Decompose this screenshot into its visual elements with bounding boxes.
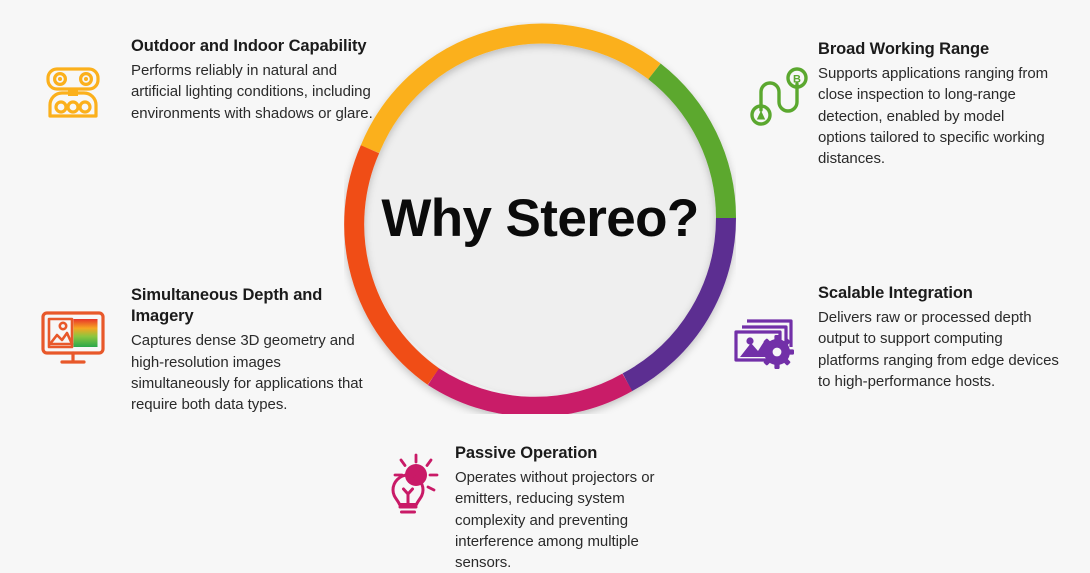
stereo-camera-robot-icon [36, 55, 110, 129]
feature-body: Captures dense 3D geometry and high-reso… [131, 330, 375, 415]
infographic-canvas: Why Stereo? Outdoor and Indoor Capabilit… [0, 0, 1090, 573]
feature-body: Supports applications ranging from close… [818, 63, 1050, 169]
feature-title: Outdoor and Indoor Capability [131, 36, 375, 57]
monitor-image-depthmap-icon [36, 300, 110, 374]
feature-body: Operates without projectors or emitters,… [455, 467, 679, 573]
feature-title: Passive Operation [455, 443, 679, 464]
lightbulb-sun-icon [371, 447, 445, 521]
feature-title: Scalable Integration [818, 283, 1060, 304]
feature-body: Performs reliably in natural and artific… [131, 60, 375, 124]
route-a-to-b-icon: B [740, 58, 814, 132]
feature-title: Broad Working Range [818, 39, 1050, 60]
feature-body: Delivers raw or processed depth output t… [818, 307, 1060, 392]
images-gear-icon [727, 303, 801, 377]
feature-broad-working-range: Broad Working Range Supports application… [818, 39, 1050, 170]
feature-outdoor-indoor-capability: Outdoor and Indoor Capability Performs r… [131, 36, 375, 124]
why-stereo-ring: Why Stereo? [344, 22, 736, 414]
page-title: Why Stereo? [344, 22, 736, 414]
feature-scalable-integration: Scalable Integration Delivers raw or pro… [818, 283, 1060, 392]
feature-title: Simultaneous Depth and Imagery [131, 285, 375, 327]
feature-passive-operation: Passive Operation Operates without proje… [455, 443, 679, 573]
feature-simultaneous-depth-imagery: Simultaneous Depth and Imagery Captures … [131, 285, 375, 415]
svg-text:B: B [793, 74, 801, 86]
